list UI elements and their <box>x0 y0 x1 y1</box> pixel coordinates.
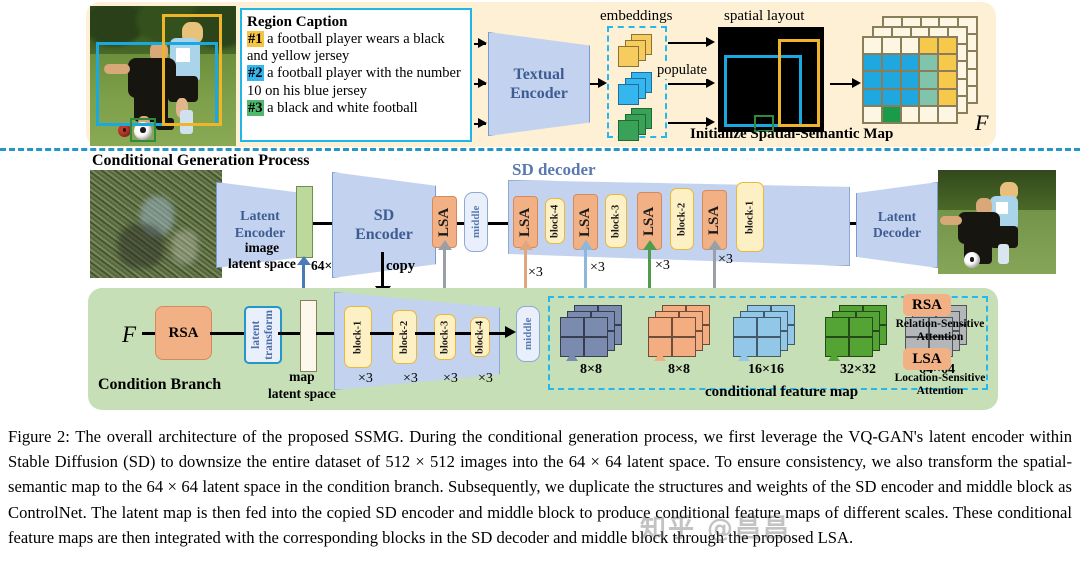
cond-line-f <box>415 332 435 335</box>
latent-transform-label: latent transform <box>250 310 276 360</box>
ssm-cell <box>901 89 920 106</box>
source-image <box>90 6 236 146</box>
ssm-cell <box>882 106 901 123</box>
cond-block-4-label: block-4 <box>475 320 486 353</box>
embeddings-to-layout-arrow-2 <box>706 78 715 88</box>
feature-cell <box>733 317 757 337</box>
legend-lsa-label: LSA <box>912 351 941 368</box>
cond-line-e <box>370 332 394 335</box>
cond-block-3-label: block-3 <box>440 320 451 353</box>
feature-cell <box>757 317 781 337</box>
lsa0-feed-arrow <box>438 240 452 250</box>
region-caption-item-2: #2 a football player with the number 10 … <box>247 65 465 99</box>
ssm-cell <box>901 37 920 54</box>
feature-cell <box>849 337 873 357</box>
repeat-label-1: ×3 <box>528 265 543 281</box>
fmap-0-arrow <box>566 352 578 361</box>
ssm-cell <box>919 106 938 123</box>
feature-cell <box>849 317 873 337</box>
feature-map-2-size: 16×16 <box>748 362 784 378</box>
cond-block-4: block-4 <box>470 317 490 357</box>
region-tag-2: #2 <box>247 65 264 81</box>
region-caption-item-1: #1 a football player wears a black and y… <box>247 31 465 65</box>
map-latent-space-label: map latent space <box>268 368 336 402</box>
rsa-block: RSA <box>155 306 212 360</box>
conditional-generation-title: Conditional Generation Process <box>92 152 309 170</box>
latent-decoder-label: Latent Decoder <box>873 209 921 241</box>
region-tag-1: #1 <box>247 31 264 47</box>
decoder-lsa-1-label: LSA <box>517 207 534 236</box>
panel-divider <box>0 148 1080 151</box>
ssm-cell <box>863 37 882 54</box>
cond-line-g <box>455 332 471 335</box>
feature-map-3 <box>825 305 887 357</box>
rsa-label: RSA <box>168 325 198 342</box>
region-tag-3: #3 <box>247 100 264 116</box>
cond-repeat-4: ×3 <box>478 371 493 387</box>
feature-cell <box>584 337 608 357</box>
repeat-label-2: ×3 <box>590 260 605 276</box>
cond-block-1-label: block-1 <box>353 320 364 353</box>
decoder-block-3-label: block-3 <box>611 204 622 237</box>
embeddings-label: embeddings <box>600 8 673 25</box>
lsa4-feed-shaft <box>713 248 716 284</box>
cond-repeat-2: ×3 <box>403 371 418 387</box>
ssm-cell <box>863 71 882 88</box>
figure-caption: Figure 2: The overall architecture of th… <box>8 424 1072 550</box>
cond-block-1: block-1 <box>344 306 372 368</box>
latent-transform-block: latent transform <box>244 306 282 364</box>
region-box-1 <box>162 14 222 126</box>
decoder-lsa-3-label: LSA <box>641 206 658 235</box>
ssm-cell <box>919 54 938 71</box>
ssm-cell <box>901 71 920 88</box>
feature-map-1 <box>648 305 710 357</box>
cond-repeat-1: ×3 <box>358 371 373 387</box>
fmap-3-arrow <box>828 352 840 361</box>
sd-encoder-block: SD Encoder <box>332 172 436 278</box>
legend-rsa-label: RSA <box>912 297 942 314</box>
decoder-block-2-label: block-2 <box>677 202 688 235</box>
lsa2-feed-arrow <box>579 240 593 250</box>
feature-cell <box>825 317 849 337</box>
layout-to-map-arrow <box>852 78 861 88</box>
ssm-output-symbol: F <box>975 110 988 136</box>
ssm-cell <box>882 89 901 106</box>
feature-cell <box>672 317 696 337</box>
decoder-middle-block: middle <box>464 192 488 252</box>
region-text-2: a football player with the number 10 on … <box>247 65 461 98</box>
cond-block-2: block-2 <box>392 310 417 364</box>
region-caption-box: Region Caption #1 a football player wear… <box>240 8 472 142</box>
decoder-block-4-label: block-4 <box>550 204 561 237</box>
legend-rsa-name: Relation-Sensitive Attention <box>888 318 992 344</box>
map-latent-bar <box>300 300 317 372</box>
lsa4-feed-arrow <box>708 240 722 250</box>
conditional-feature-map-label: conditional feature map <box>705 384 858 401</box>
ssm-cell <box>919 37 938 54</box>
layout-box-1 <box>778 39 820 127</box>
ssm-cell <box>938 106 957 123</box>
ssm-cell <box>882 37 901 54</box>
region-caption-item-3: #3 a black and white football <box>247 100 465 117</box>
condition-input-symbol: F <box>122 322 136 348</box>
feature-cell <box>584 317 608 337</box>
region-caption-title: Region Caption <box>247 13 465 31</box>
ssm-cell <box>863 89 882 106</box>
embeddings-group-box <box>607 26 667 138</box>
feature-cell <box>672 337 696 357</box>
cond-repeat-3: ×3 <box>443 371 458 387</box>
ssm-cell <box>863 54 882 71</box>
caption-to-encoder-arrow-1 <box>478 38 487 48</box>
ssm-cell <box>938 54 957 71</box>
lsa3-feed-shaft <box>648 248 651 290</box>
condition-branch-title: Condition Branch <box>98 376 221 394</box>
noisy-latent-image <box>90 170 222 278</box>
region-text-3: a black and white football <box>267 100 418 116</box>
ssm-cell <box>863 106 882 123</box>
cond-to-middle-arrow <box>505 326 516 338</box>
ssm-cell <box>938 89 957 106</box>
repeat-label-4: ×3 <box>718 252 733 268</box>
cond-middle-block: middle <box>516 306 540 362</box>
initialize-ssm-label: Initialize Spatial-Semantic Map <box>690 126 893 143</box>
repeat-label-3: ×3 <box>655 258 670 274</box>
copy-label: copy <box>386 258 415 275</box>
ssm-cell <box>901 106 920 123</box>
decoder-block-1: block-1 <box>736 182 764 252</box>
embeddings-to-layout-arrow-1 <box>706 37 715 47</box>
fmap-2-arrow <box>738 352 750 361</box>
decoder-block-1-label: block-1 <box>745 200 756 233</box>
legend-lsa-chip: LSA <box>903 348 951 370</box>
feature-cell <box>648 317 672 337</box>
region-text-1: a football player wears a black and yell… <box>247 31 445 64</box>
spatial-layout-label: spatial layout <box>724 8 804 25</box>
cond-middle-label: middle <box>522 318 534 350</box>
sd-encoder-label: SD Encoder <box>355 206 413 244</box>
decoder-lsa-2-label: LSA <box>577 207 594 236</box>
embeddings-to-layout-line-3 <box>668 122 710 124</box>
feature-cell <box>757 337 781 357</box>
ssm-cell <box>919 89 938 106</box>
legend-rsa-chip: RSA <box>903 294 951 316</box>
textual-encoder-block: Textual Encoder <box>488 32 590 136</box>
ssm-cell <box>938 37 957 54</box>
cond-block-2-label: block-2 <box>399 320 410 353</box>
region-box-3 <box>130 118 156 142</box>
fmap-1-arrow <box>654 352 666 361</box>
lsa3-feed-arrow <box>643 240 657 250</box>
sd-decoder-title: SD decoder <box>512 160 596 180</box>
populate-label: populate <box>655 62 709 79</box>
generated-output-image <box>938 170 1056 274</box>
spatial-semantic-map <box>862 16 978 124</box>
decoder-block-2: block-2 <box>670 188 694 250</box>
textual-encoder-label: Textual Encoder <box>510 65 568 103</box>
embeddings-to-layout-line-1 <box>668 42 710 44</box>
cond-line-c <box>278 332 302 335</box>
caption-to-encoder-arrow-2 <box>478 78 487 88</box>
legend-lsa-name: Location-Sensitive Attention <box>888 372 992 398</box>
feature-map-1-size: 8×8 <box>668 362 690 378</box>
latent-encoder-label: Latent Encoder <box>235 208 286 242</box>
feature-map-0 <box>560 305 622 357</box>
copy-shaft <box>381 252 384 290</box>
caption-to-encoder-arrow-3 <box>478 118 487 128</box>
spatial-layout-canvas <box>718 27 824 132</box>
image-latent-bar <box>296 186 313 258</box>
feature-map-0-size: 8×8 <box>580 362 602 378</box>
ssm-cell <box>901 54 920 71</box>
feature-map-3-size: 32×32 <box>840 362 876 378</box>
decoder-block-4: block-4 <box>545 198 565 244</box>
figure-diagram: Region Caption #1 a football player wear… <box>0 0 1080 418</box>
ssm-cell <box>938 71 957 88</box>
feature-map-2 <box>733 305 795 357</box>
lsa1-feed-arrow <box>519 240 533 250</box>
encoder-to-embeddings-arrow <box>598 78 607 88</box>
decoder-block-3: block-3 <box>605 194 627 248</box>
map-to-latent-arrowhead <box>297 256 311 265</box>
decoder-lsa-4-label: LSA <box>706 205 723 234</box>
cond-line-b <box>210 332 246 335</box>
ssm-cell <box>882 54 901 71</box>
latent-decoder-block: Latent Decoder <box>856 182 938 268</box>
cond-block-3: block-3 <box>434 314 456 360</box>
feature-cell <box>560 317 584 337</box>
image-latent-space-label: image latent space <box>228 240 296 272</box>
embeddings-to-layout-line-2 <box>668 83 710 85</box>
ssm-cell <box>919 71 938 88</box>
decoder-middle-label: middle <box>470 206 482 238</box>
decoder-lsa-0-label: LSA <box>436 207 453 236</box>
ssm-cell <box>882 71 901 88</box>
